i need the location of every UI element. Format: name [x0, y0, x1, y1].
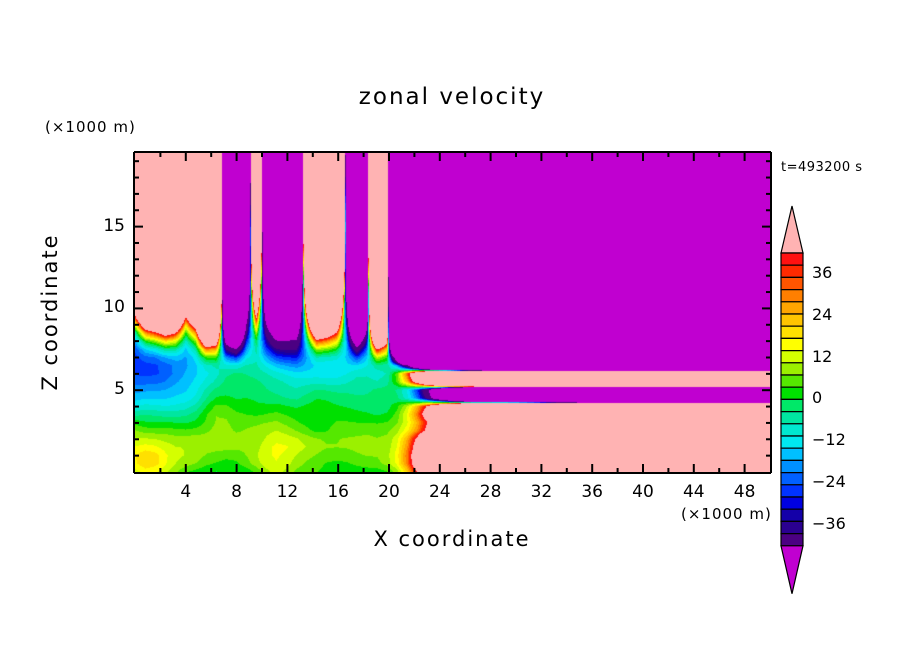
colorbar-band — [781, 412, 803, 424]
colorbar-tick-label: −12 — [812, 430, 846, 449]
x-tick-label: 12 — [273, 482, 301, 502]
colorbar-band — [781, 314, 803, 326]
colorbar-band — [781, 497, 803, 509]
colorbar-tick-label: 24 — [812, 305, 832, 324]
colorbar-band — [781, 338, 803, 350]
x-tick-label: 4 — [172, 482, 200, 502]
colorbar-band — [781, 399, 803, 411]
colorbar-band — [781, 436, 803, 448]
colorbar-band — [781, 363, 803, 375]
colorbar-band — [781, 351, 803, 363]
colorbar-tick-label: −24 — [812, 472, 846, 491]
x-tick-label: 24 — [426, 482, 454, 502]
colorbar-band — [781, 460, 803, 472]
y-tick-label: 15 — [87, 216, 125, 236]
colorbar-band — [781, 473, 803, 485]
x-tick-label: 8 — [223, 482, 251, 502]
x-tick-label: 32 — [527, 482, 555, 502]
colorbar-band — [781, 485, 803, 497]
colorbar-bottom-cap — [781, 546, 803, 594]
x-tick-label: 48 — [731, 482, 759, 502]
x-tick-label: 16 — [324, 482, 352, 502]
colorbar-band — [781, 509, 803, 521]
x-tick-label: 44 — [680, 482, 708, 502]
colorbar-top-cap — [781, 206, 803, 253]
colorbar-tick-label: −36 — [812, 514, 846, 533]
colorbar-tick-label: 12 — [812, 347, 832, 366]
colorbar-band — [781, 424, 803, 436]
x-tick-label: 36 — [578, 482, 606, 502]
colorbar — [778, 205, 806, 600]
x-tick-label: 28 — [477, 482, 505, 502]
plot-axes — [0, 0, 904, 654]
colorbar-band — [781, 387, 803, 399]
colorbar-band — [781, 253, 803, 265]
colorbar-band — [781, 326, 803, 338]
y-tick-label: 5 — [87, 379, 125, 399]
colorbar-band — [781, 290, 803, 302]
colorbar-band — [781, 534, 803, 546]
colorbar-band — [781, 375, 803, 387]
colorbar-tick-label: 0 — [812, 388, 822, 407]
colorbar-band — [781, 277, 803, 289]
axis-frame — [0, 0, 904, 654]
colorbar-band — [781, 302, 803, 314]
colorbar-svg — [778, 205, 806, 600]
colorbar-band — [781, 265, 803, 277]
y-tick-label: 10 — [87, 297, 125, 317]
colorbar-band — [781, 448, 803, 460]
x-tick-label: 40 — [629, 482, 657, 502]
colorbar-tick-label: 36 — [812, 263, 832, 282]
colorbar-band — [781, 521, 803, 533]
x-tick-label: 20 — [375, 482, 403, 502]
